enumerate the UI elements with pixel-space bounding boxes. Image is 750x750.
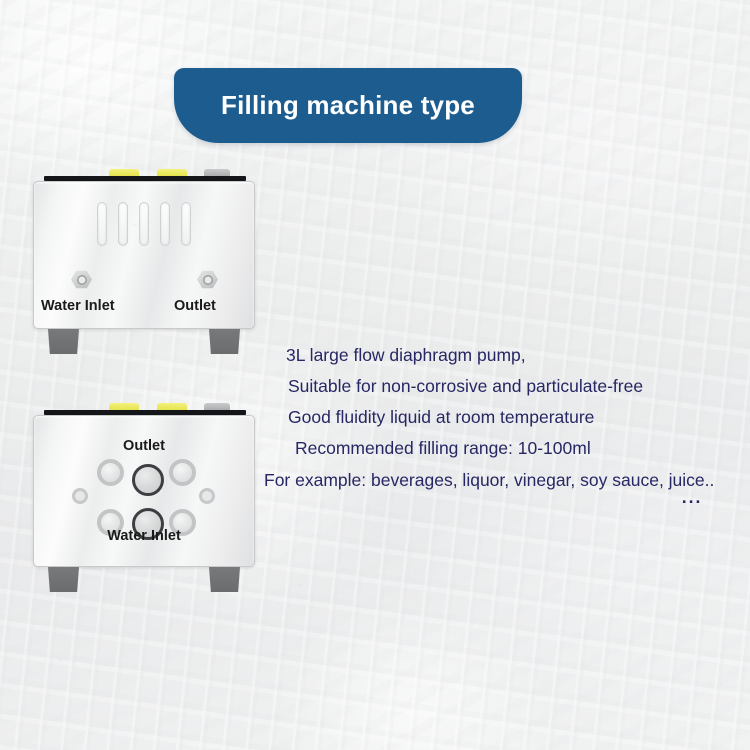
machine-leg [48,329,79,354]
machine-2-top-assembly [44,402,246,415]
spec-line: 3L large flow diaphragm pump, [286,340,714,371]
machine-2-water-inlet-label: Water Inlet [34,528,254,544]
machine-1-outlet-label: Outlet [174,298,216,314]
vent-slot-icon [97,202,107,246]
machine-2-body: Outlet Water Inlet [33,415,255,567]
infographic-canvas: Filling machine type Wate [0,0,750,750]
spec-line: For example: beverages, liquor, vinegar,… [264,465,714,496]
machine-leg [48,567,79,592]
bolt-hole-icon [97,459,124,486]
machine-1-top-assembly [44,168,246,181]
product-1-spec-list: 3L large flow diaphragm pump, Suitable f… [286,340,714,513]
page-title: Filling machine type [221,90,475,121]
bolt-hole-icon [169,459,196,486]
vent-slot-icon [160,202,170,246]
machine-illustration-2: Outlet Water Inlet [33,402,255,592]
water-inlet-fitting-icon [71,270,92,289]
machine-1-water-inlet-label: Water Inlet [41,298,115,314]
machine-1-legs [47,329,241,354]
machine-leg [209,329,240,354]
small-hole-icon [72,488,88,504]
vent-slot-icon [181,202,191,246]
vent-slot-group [34,202,254,246]
outlet-port-icon [132,464,164,496]
spec-line: Recommended filling range: 10-100ml [295,433,714,464]
machine-leg [209,567,240,592]
spec-line: Suitable for non-corrosive and particula… [288,371,714,402]
machine-2-legs [47,567,241,592]
small-hole-icon [199,488,215,504]
machine-illustration-1: Water Inlet Outlet [33,168,255,354]
outlet-fitting-icon [197,270,218,289]
machine-1-body: Water Inlet Outlet [33,181,255,329]
title-banner: Filling machine type [174,68,522,143]
spec-line: Good fluidity liquid at room temperature [288,402,714,433]
machine-2-outlet-label: Outlet [34,438,254,454]
vent-slot-icon [118,202,128,246]
vent-slot-icon [139,202,149,246]
